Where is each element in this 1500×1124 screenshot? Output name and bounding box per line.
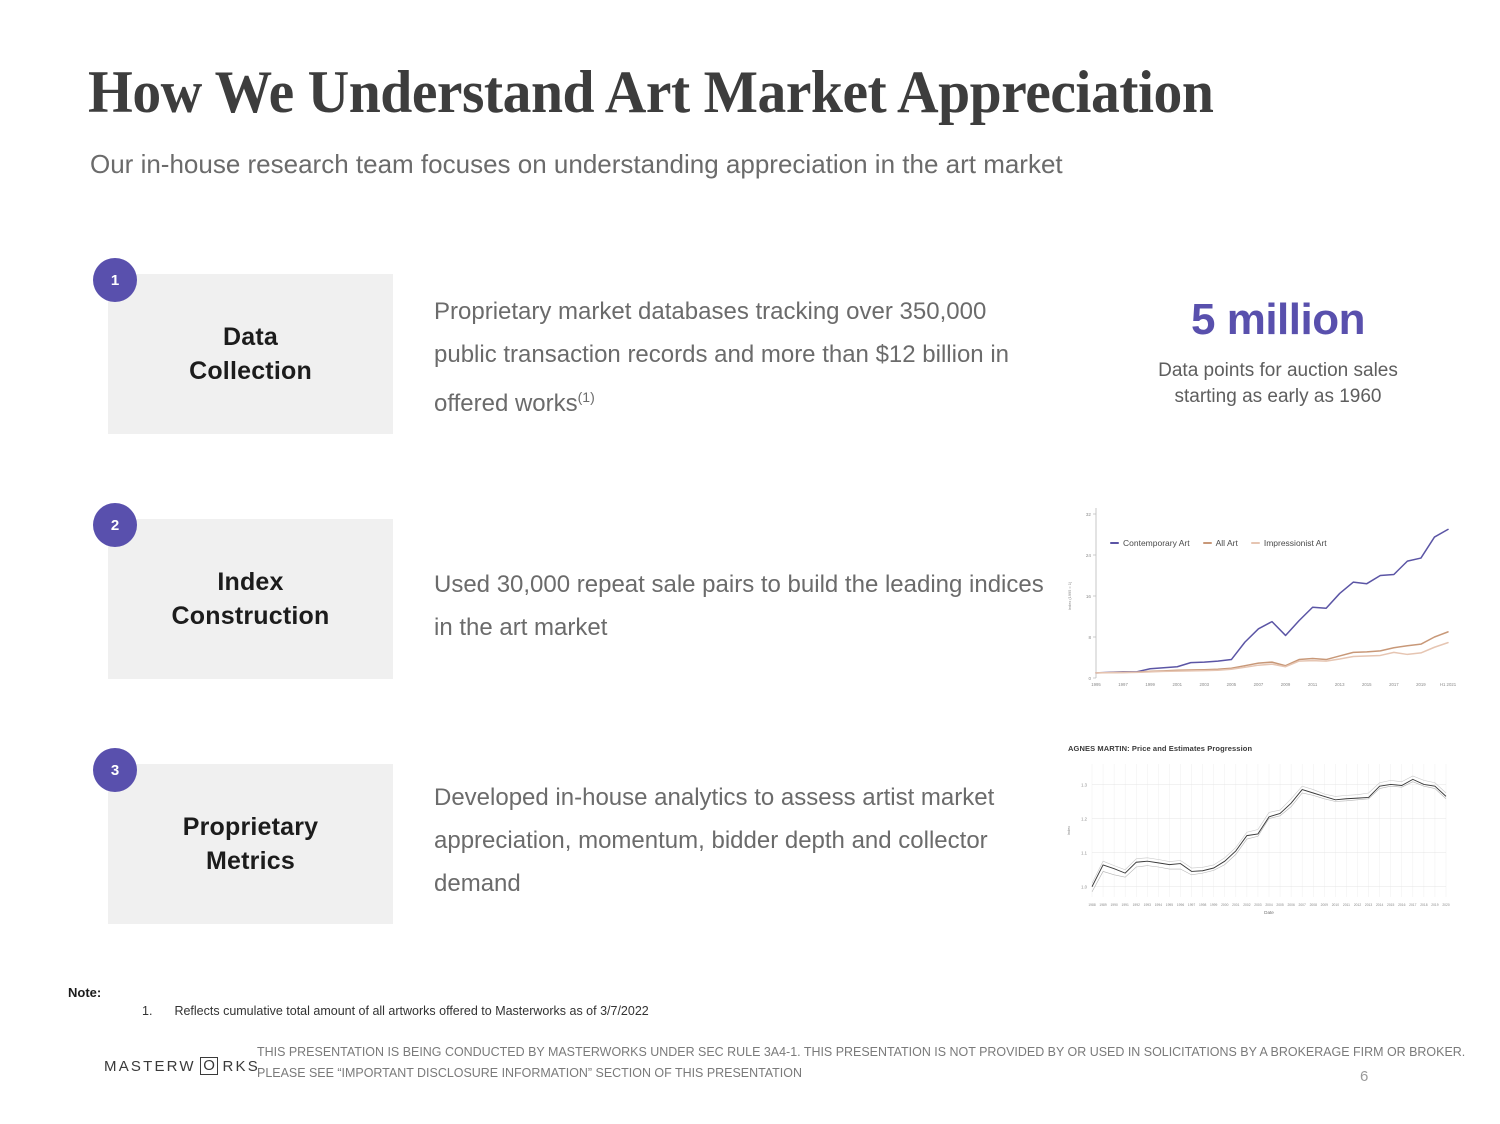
- step-label-line1: Data: [223, 323, 278, 351]
- footer-disclaimer: THIS PRESENTATION IS BEING CONDUCTED BY …: [257, 1042, 1470, 1084]
- svg-text:2010: 2010: [1332, 903, 1340, 907]
- logo-text-part1: MASTERW: [104, 1058, 196, 1075]
- masterworks-logo: MASTERWORKS: [104, 1057, 260, 1075]
- svg-text:2018: 2018: [1420, 903, 1428, 907]
- svg-text:2001: 2001: [1172, 682, 1182, 687]
- legend-label: Impressionist Art: [1264, 538, 1327, 548]
- svg-text:2013: 2013: [1335, 682, 1345, 687]
- svg-text:2014: 2014: [1376, 903, 1384, 907]
- step-label-line2: Construction: [172, 602, 330, 630]
- svg-text:2005: 2005: [1276, 903, 1284, 907]
- svg-text:1991: 1991: [1122, 903, 1130, 907]
- step-label-box-3: Proprietary Metrics: [108, 764, 393, 924]
- svg-text:1.2: 1.2: [1081, 816, 1087, 821]
- legend-item-all-art: All Art: [1203, 538, 1238, 548]
- svg-text:1996: 1996: [1177, 903, 1185, 907]
- chart-agnes-svg: 1.01.11.21.3Index19881989199019911992199…: [1062, 742, 1456, 927]
- note-text: Reflects cumulative total amount of all …: [174, 1004, 648, 1018]
- chart-legend-art-indices: Contemporary Art All Art Impressionist A…: [1110, 538, 1327, 548]
- svg-text:1988: 1988: [1088, 903, 1096, 907]
- svg-text:2004: 2004: [1265, 903, 1273, 907]
- svg-text:32: 32: [1086, 512, 1092, 517]
- svg-text:2013: 2013: [1365, 903, 1373, 907]
- svg-text:16: 16: [1086, 594, 1092, 599]
- legend-swatch-icon: [1110, 542, 1119, 544]
- svg-text:1999: 1999: [1145, 682, 1155, 687]
- svg-text:1.1: 1.1: [1081, 850, 1087, 855]
- logo-text-part2: RKS: [222, 1058, 259, 1075]
- svg-text:Date: Date: [1264, 910, 1274, 915]
- svg-text:2003: 2003: [1254, 903, 1262, 907]
- page-title: How We Understand Art Market Appreciatio…: [88, 60, 1213, 124]
- svg-text:2009: 2009: [1321, 903, 1329, 907]
- disclaimer-line1: THIS PRESENTATION IS BEING CONDUCTED BY …: [257, 1045, 1350, 1059]
- step-label-line1: Proprietary: [183, 813, 319, 841]
- svg-text:2008: 2008: [1310, 903, 1318, 907]
- svg-text:2007: 2007: [1254, 682, 1264, 687]
- svg-text:2019: 2019: [1431, 903, 1439, 907]
- stat-caption-line2: starting as early as 1960: [1174, 386, 1381, 407]
- legend-label: Contemporary Art: [1123, 538, 1190, 548]
- stat-value: 5 million: [1128, 294, 1428, 346]
- note-number: 1.: [142, 1004, 152, 1018]
- svg-text:1989: 1989: [1099, 903, 1107, 907]
- legend-swatch-icon: [1203, 542, 1212, 544]
- svg-text:1995: 1995: [1091, 682, 1101, 687]
- svg-text:2011: 2011: [1308, 682, 1318, 687]
- svg-text:2015: 2015: [1387, 903, 1395, 907]
- step-label-line2: Metrics: [206, 847, 295, 875]
- svg-text:1999: 1999: [1210, 903, 1218, 907]
- svg-text:2015: 2015: [1362, 682, 1372, 687]
- svg-text:2012: 2012: [1354, 903, 1362, 907]
- svg-text:24: 24: [1086, 553, 1092, 558]
- chart-agnes-title: AGNES MARTIN: Price and Estimates Progre…: [1068, 744, 1252, 753]
- svg-text:Index: Index: [1067, 826, 1071, 835]
- legend-item-contemporary-art: Contemporary Art: [1110, 538, 1190, 548]
- svg-text:1992: 1992: [1133, 903, 1141, 907]
- legend-swatch-icon: [1251, 542, 1260, 544]
- note-item: 1. Reflects cumulative total amount of a…: [142, 1004, 649, 1018]
- step-badge-2: 2: [93, 503, 137, 547]
- svg-text:8: 8: [1088, 635, 1091, 640]
- svg-text:0: 0: [1088, 676, 1091, 681]
- footnote-marker: (1): [578, 389, 595, 405]
- svg-text:2009: 2009: [1281, 682, 1291, 687]
- step-body-3: Developed in-house analytics to assess a…: [434, 776, 1044, 905]
- svg-text:H1 2021: H1 2021: [1440, 682, 1456, 687]
- svg-text:1994: 1994: [1155, 903, 1163, 907]
- legend-item-impressionist-art: Impressionist Art: [1251, 538, 1327, 548]
- svg-text:2003: 2003: [1200, 682, 1210, 687]
- svg-text:2020: 2020: [1442, 903, 1450, 907]
- svg-text:2000: 2000: [1221, 903, 1229, 907]
- stat-block-data-points: 5 million Data points for auction sales …: [1128, 294, 1428, 410]
- svg-text:2005: 2005: [1227, 682, 1237, 687]
- step-body-1: Proprietary market databases tracking ov…: [434, 290, 1044, 425]
- svg-text:Index (1995 = 1): Index (1995 = 1): [1067, 581, 1072, 610]
- notes-label: Note:: [68, 985, 101, 1000]
- page-number: 6: [1360, 1068, 1368, 1085]
- svg-text:1.0: 1.0: [1081, 885, 1087, 890]
- svg-text:1998: 1998: [1199, 903, 1207, 907]
- svg-text:2006: 2006: [1287, 903, 1295, 907]
- stat-caption-line1: Data points for auction sales: [1158, 360, 1398, 381]
- step-body-2: Used 30,000 repeat sale pairs to build t…: [434, 563, 1044, 649]
- svg-text:2011: 2011: [1343, 903, 1350, 907]
- step-label-line2: Collection: [189, 357, 312, 385]
- step-label-box-1: Data Collection: [108, 274, 393, 434]
- svg-text:2017: 2017: [1409, 903, 1417, 907]
- svg-text:2017: 2017: [1389, 682, 1399, 687]
- step-label-box-2: Index Construction: [108, 519, 393, 679]
- svg-text:2016: 2016: [1398, 903, 1406, 907]
- step-body-text: Proprietary market databases tracking ov…: [434, 298, 1009, 417]
- chart-art-indices: 08162432Index (1995 = 1)1995199719992001…: [1062, 500, 1456, 700]
- svg-text:2007: 2007: [1299, 903, 1307, 907]
- logo-boxed-o-icon: O: [200, 1057, 218, 1075]
- step-badge-3: 3: [93, 748, 137, 792]
- svg-text:1.3: 1.3: [1081, 782, 1087, 787]
- chart-art-indices-svg: 08162432Index (1995 = 1)1995199719992001…: [1062, 500, 1456, 700]
- svg-text:1990: 1990: [1110, 903, 1118, 907]
- stat-caption: Data points for auction sales starting a…: [1128, 358, 1428, 410]
- page-subtitle: Our in-house research team focuses on un…: [90, 148, 1063, 180]
- svg-text:1993: 1993: [1144, 903, 1152, 907]
- svg-text:1997: 1997: [1118, 682, 1128, 687]
- legend-label: All Art: [1216, 538, 1238, 548]
- svg-text:2001: 2001: [1232, 903, 1240, 907]
- step-label-line1: Index: [217, 568, 283, 596]
- svg-text:2019: 2019: [1416, 682, 1426, 687]
- svg-text:1995: 1995: [1166, 903, 1174, 907]
- svg-text:1997: 1997: [1188, 903, 1196, 907]
- svg-text:2002: 2002: [1243, 903, 1251, 907]
- chart-agnes-martin: AGNES MARTIN: Price and Estimates Progre…: [1062, 742, 1456, 927]
- step-badge-1: 1: [93, 258, 137, 302]
